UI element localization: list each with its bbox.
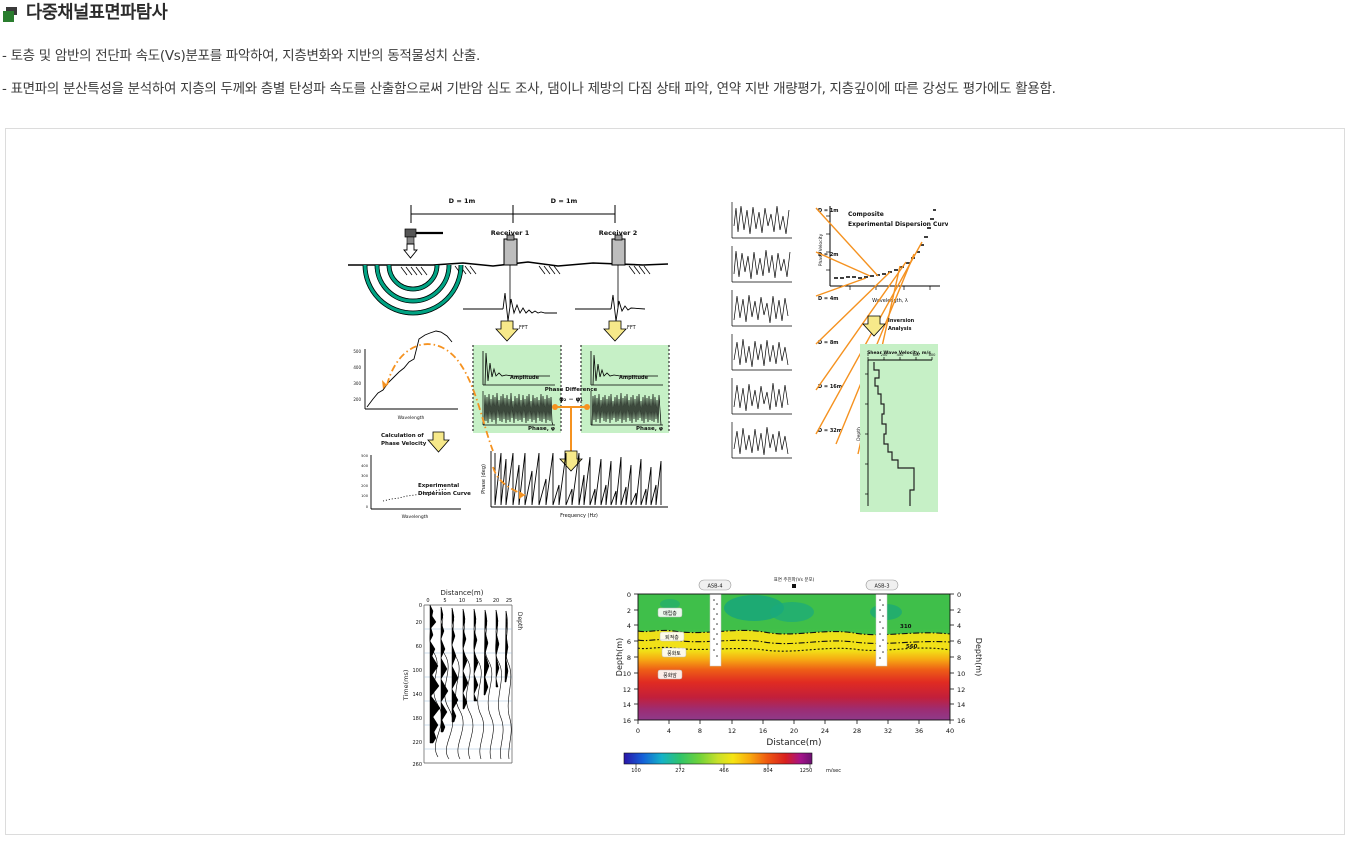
svg-text:8: 8 (698, 727, 702, 735)
layer-label-0: 매립층 (658, 608, 682, 617)
colorbar-tick-2: 466 (719, 768, 729, 772)
svg-text:16: 16 (759, 727, 767, 735)
shot-gather-right-label: Depth (516, 612, 523, 630)
survey-point-marker (792, 584, 796, 588)
svg-text:매립층: 매립층 (663, 610, 677, 617)
calc-label-line1: Calculation of (381, 433, 424, 439)
svg-text:200: 200 (361, 484, 369, 488)
vs-profile-panel: Shear Wave Velocity, m/s (856, 344, 938, 512)
exp-disp-label-1: Experimental (418, 483, 459, 489)
svg-text:14: 14 (957, 701, 965, 709)
svg-text:200: 200 (353, 397, 361, 402)
colorbar-tick-4: 1250 (800, 768, 813, 772)
svg-text:0: 0 (636, 727, 640, 735)
svg-text:12: 12 (728, 727, 736, 735)
svg-text:풍화암: 풍화암 (663, 672, 677, 679)
inversion-label-line2: Analysis (888, 326, 911, 332)
layer-label-1: 퇴적층 (660, 632, 684, 641)
borehole-tag-1-label: ASB-4 (707, 584, 722, 590)
shot-gather-ylabel: Time(ms) (402, 670, 410, 702)
svg-text:8: 8 (957, 654, 961, 662)
colorbar-tick-1: 272 (675, 768, 685, 772)
page-title: 다중채널표면파탐사 (26, 5, 167, 23)
svg-text:16: 16 (957, 717, 965, 725)
svg-text:0: 0 (627, 591, 631, 599)
vs-tick-1: 200 (881, 353, 889, 357)
exp-disp-label-2: Dispersion Curve (418, 491, 471, 497)
svg-text:4: 4 (957, 622, 961, 630)
layer-label-2: 풍화토 (662, 648, 686, 657)
svg-text:40: 40 (946, 727, 954, 735)
phase-difference-formula: φ₂ − φ₁ (559, 396, 583, 403)
svg-text:14: 14 (623, 701, 631, 709)
svg-text:500: 500 (361, 454, 369, 458)
svg-text:500: 500 (353, 349, 361, 354)
svg-text:10: 10 (459, 598, 465, 604)
inversion-figure: D = 1m D = 2m D = 4m (718, 194, 948, 514)
svg-text:퇴적층: 퇴적층 (665, 634, 679, 641)
colorbar-tick-0: 100 (631, 768, 641, 772)
trace-label-2: D = 4m (818, 296, 839, 302)
svg-text:FFT: FFT (519, 325, 529, 331)
figure-container: D = 1m D = 1m (5, 128, 1345, 835)
svg-text:Wavelength: Wavelength (398, 415, 425, 421)
svg-text:400: 400 (353, 365, 361, 370)
trace-label-4: D = 16m (818, 384, 842, 390)
borehole-tag-2: ASB-3 (866, 580, 898, 590)
svg-text:풍화토: 풍화토 (667, 651, 681, 657)
exp-disp-xlabel: Wavelength (402, 514, 429, 519)
svg-text:20: 20 (790, 727, 798, 735)
shot-gather-xlabel: Distance(m) (441, 589, 484, 597)
dimension-label-1: D = 1m (449, 197, 476, 205)
contour-annotation-0: 310 (900, 624, 912, 630)
svg-text:300: 300 (361, 474, 369, 478)
svg-text:60: 60 (416, 644, 422, 650)
vs-tick-4: 800 (929, 353, 937, 357)
svg-text:140: 140 (412, 692, 422, 698)
svg-text:2: 2 (957, 607, 961, 615)
receiver-1-icon (504, 235, 517, 265)
svg-text:2: 2 (627, 607, 631, 615)
svg-text:0: 0 (419, 603, 422, 609)
masw-schematic-figure: D = 1m D = 1m (343, 189, 673, 519)
svg-text:6: 6 (627, 638, 631, 646)
svg-text:180: 180 (412, 716, 422, 722)
contour-annotation-1: 560 (906, 644, 918, 650)
svg-text:100: 100 (412, 668, 422, 674)
composite-label-line2: Experimental Dispersion Curve (848, 221, 948, 228)
svg-text:0: 0 (426, 598, 429, 604)
section-ylabel: Depth(m) (615, 638, 624, 676)
svg-text:100: 100 (361, 494, 369, 498)
shot-gather-figure: Distance(m) (394, 581, 524, 771)
green-square-bullet-icon (2, 7, 18, 22)
borehole-tag-2-label: ASB-3 (874, 584, 889, 590)
svg-text:16: 16 (623, 717, 631, 725)
svg-text:12: 12 (957, 686, 965, 694)
amplitude-label-1: Amplitude (510, 375, 540, 381)
page-root: 다중채널표면파탐사 - 토층 및 암반의 전단파 속도(Vs)분포를 파악하여,… (0, 0, 1350, 864)
svg-text:260: 260 (412, 762, 422, 768)
svg-text:6: 6 (957, 638, 961, 646)
composite-label-line1: Composite (848, 211, 884, 218)
calc-label-line2: Phase Velocity (381, 441, 427, 447)
phase-label-1: Phase, φ (528, 426, 555, 432)
section-xlabel: Distance(m) (766, 738, 821, 748)
svg-text:10: 10 (957, 670, 965, 678)
wrapped-phase-xlabel: Frequency (Hz) (560, 513, 598, 519)
svg-text:400: 400 (361, 464, 369, 468)
velocity-section-figure: 표면 주진파(Vs 분포) ASB-4 ASB-3 (614, 572, 984, 772)
phase-difference-label: Phase Difference (545, 387, 598, 393)
svg-text:300: 300 (353, 381, 361, 386)
vs-depth-label: Depth (856, 427, 862, 441)
inversion-label-line1: Inversion (888, 318, 915, 324)
borehole-tag-1: ASB-4 (699, 580, 731, 590)
svg-text:24: 24 (821, 727, 829, 735)
trace-label-5: D = 32m (818, 428, 842, 434)
colorbar-tick-3: 804 (763, 768, 773, 772)
svg-text:15: 15 (476, 598, 482, 604)
svg-text:0: 0 (957, 591, 961, 599)
section-top-caption: 표면 주진파(Vs 분포) (774, 576, 815, 583)
receiver-2-icon (612, 235, 625, 265)
borehole-column-1 (710, 594, 721, 666)
svg-text:12: 12 (623, 686, 631, 694)
svg-text:32: 32 (884, 727, 892, 735)
phase-label-2: Phase, φ (636, 426, 663, 432)
svg-text:Phase Velocity: Phase Velocity (818, 233, 824, 266)
svg-text:20: 20 (493, 598, 499, 604)
svg-text:28: 28 (853, 727, 861, 735)
svg-text:8: 8 (627, 654, 631, 662)
svg-text:5: 5 (443, 598, 446, 604)
svg-text:25: 25 (506, 598, 512, 604)
svg-text:4: 4 (627, 622, 631, 630)
svg-text:FFT: FFT (627, 325, 637, 331)
colorbar-unit: m/sec (826, 768, 841, 772)
svg-text:4: 4 (667, 727, 671, 735)
description-line-2: - 표면파의 분산특성을 분석하여 지층의 두께와 층별 탄성파 속도를 산출함… (2, 81, 1056, 97)
vs-tick-2: 400 (897, 353, 905, 357)
page-header: 다중채널표면파탐사 (0, 0, 167, 28)
amplitude-label-2: Amplitude (619, 375, 649, 381)
trace-label-3: D = 8m (818, 340, 839, 346)
svg-text:20: 20 (416, 620, 422, 626)
description-line-1: - 토층 및 암반의 전단파 속도(Vs)분포를 파악하여, 지층변화와 지반의… (2, 48, 480, 64)
vs-tick-3: 600 (913, 353, 921, 357)
wrapped-phase-ylabel: Phase (deg) (481, 464, 487, 494)
section-ylabel-right: Depth(m) (974, 638, 983, 676)
figure-canvas: D = 1m D = 1m (6, 129, 1344, 834)
borehole-column-2 (876, 594, 887, 666)
svg-text:36: 36 (915, 727, 923, 735)
layer-label-3: 풍화암 (658, 670, 682, 679)
svg-text:220: 220 (412, 740, 422, 746)
dimension-label-2: D = 1m (551, 197, 578, 205)
